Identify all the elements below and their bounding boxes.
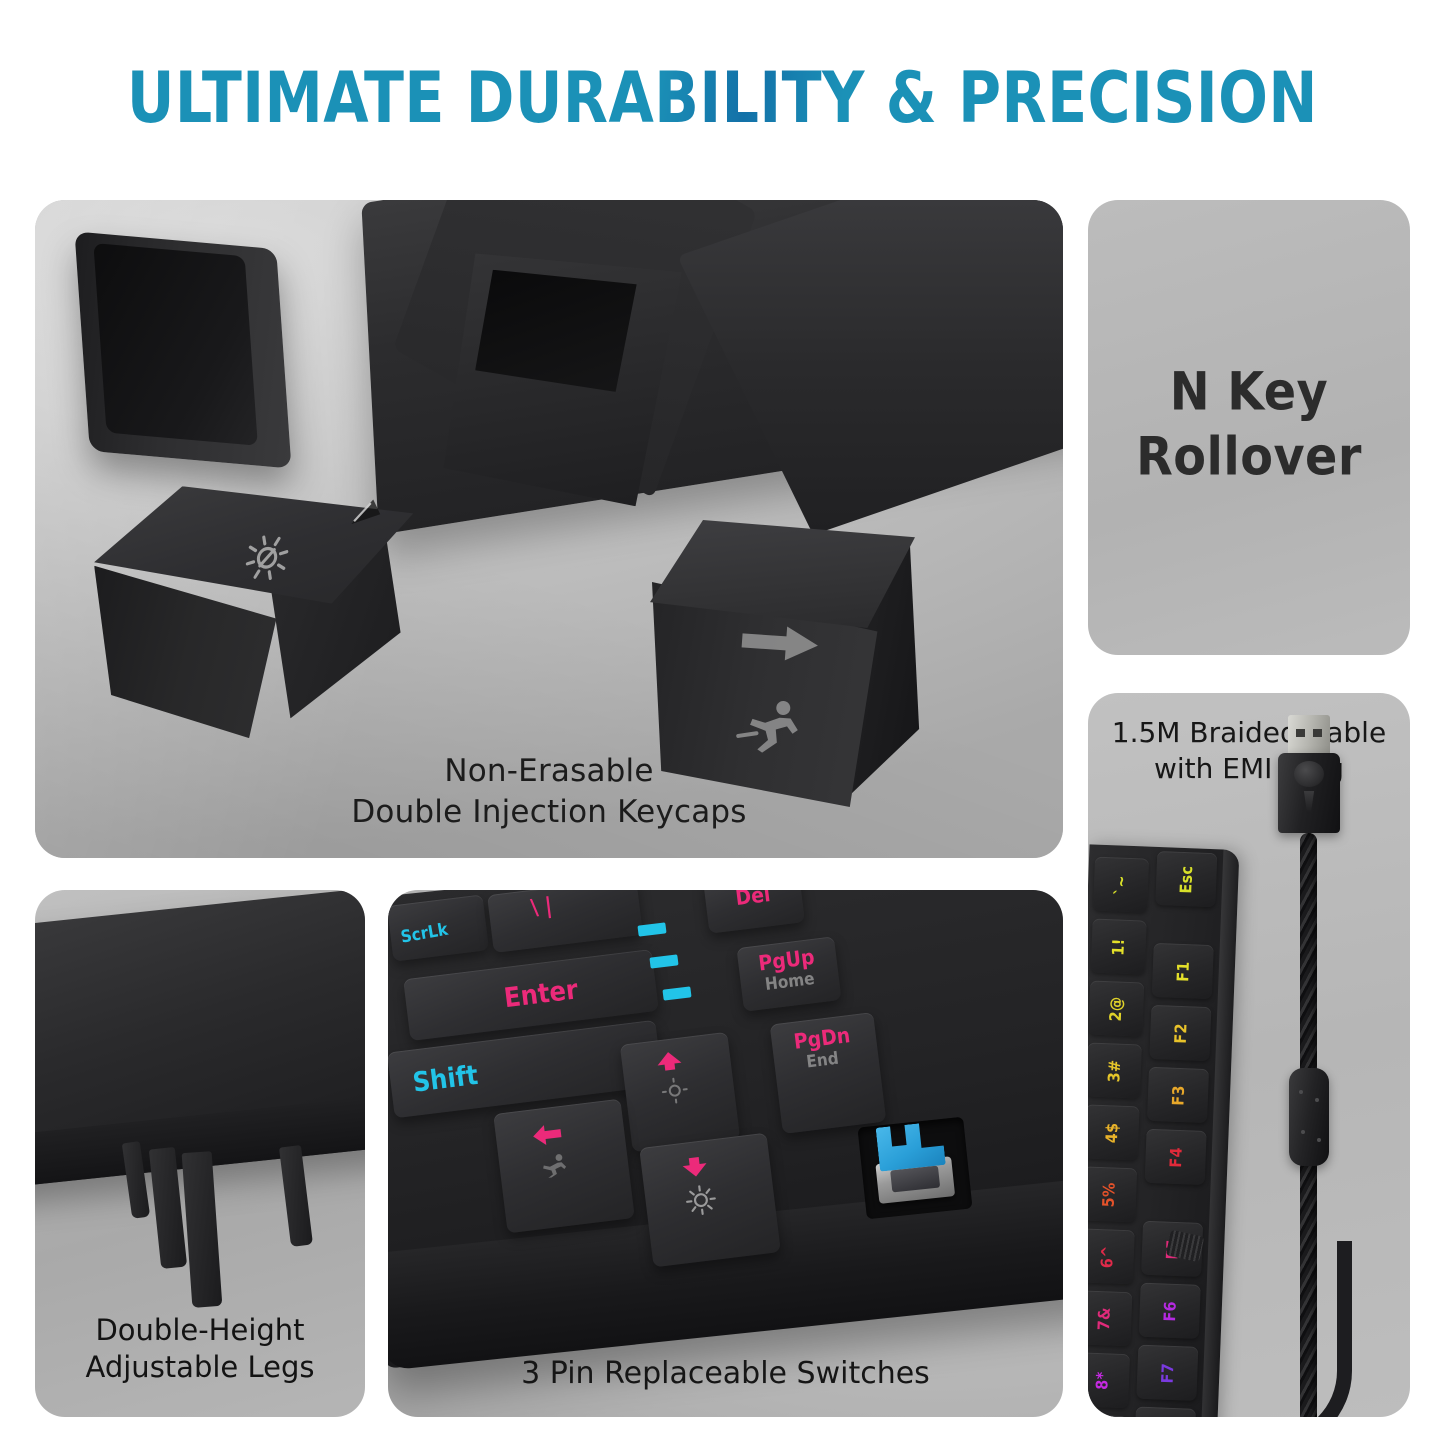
keyboard-key: 4$ [1088,1104,1140,1160]
keycaps-caption-line-1: Non-Erasable [35,751,1063,791]
keycap-pgdn: PgDn End [770,1012,887,1134]
switch-caption: 3 Pin Replaceable Switches [388,1356,1063,1391]
brightness-up-icon [682,1183,719,1217]
leg-stage-4 [279,1145,313,1247]
keycap-scrlk: ScrLk [388,894,489,961]
mechanical-switch [864,1120,964,1207]
keyboard-key-label: 6^ [1097,1245,1117,1268]
running-man-icon [733,696,803,756]
brightness-down-icon [658,1075,691,1106]
keyboard-key-label: F1 [1173,960,1193,981]
runner-small-icon [535,1151,572,1179]
usb-metal-shell [1288,715,1330,757]
keycap-pgup: PgUp Home [736,936,841,1011]
cable-caption-line-1: 1.5M Braided Cable [1088,715,1410,751]
keyboard-key-label: 2@ [1106,996,1126,1022]
leg-stage-3 [182,1151,223,1308]
legs-caption-line-2: Adjustable Legs [35,1349,365,1387]
keyboard-key: Esc [1155,851,1217,907]
keycap-brightness [88,482,422,743]
keyboard-key-label: `~ [1111,874,1131,895]
switch-stem [876,1121,946,1172]
keycap-arrow-down [639,1133,781,1268]
keyboard-key-label: 7& [1094,1306,1114,1330]
keyboard-key-label: Esc [1176,865,1196,894]
panel-keycaps: Non-Erasable Double Injection Keycaps [35,200,1063,858]
usb-housing [1278,753,1340,833]
cable-curve-segment [1192,1241,1332,1417]
keyboard-key: F8 [1134,1407,1196,1417]
keyboard-key-label: 5% [1099,1181,1119,1207]
emi-ferrite-ring [1289,1068,1329,1166]
hollow-keycap-center [443,253,682,507]
panel-braided-cable: 1.5M Braided Cable with EMI Ring `~1!2@3… [1088,693,1410,1417]
page-title: ULTIMATE DURABILITY & PRECISION [127,57,1318,139]
keycaps-caption-line-2: Double Injection Keycaps [35,792,1063,832]
switch-socket [857,1117,972,1220]
keyboard-key: F1 [1152,943,1214,999]
keyboard-key-label: F4 [1166,1146,1186,1167]
n-key-rollover-line-1: N Key [1088,359,1410,425]
panel-replaceable-switches: ScrLk \ | Enter Shift Del PgUp Home PgDn… [388,890,1063,1417]
panel-adjustable-legs: Double-Height Adjustable Legs [35,890,365,1417]
keyboard-key: 6^ [1088,1228,1135,1284]
n-key-rollover-line-2: Rollover [1088,425,1410,491]
usb-connector [1274,715,1344,835]
keyboard-key-label: 4$ [1102,1122,1122,1143]
legs-caption-line-1: Double-Height [35,1312,365,1350]
cable-caption-line-2: with EMI Ring [1088,751,1410,787]
keyboard-key-label: 3# [1104,1059,1124,1082]
page-title-bar: ULTIMATE DURABILITY & PRECISION [0,52,1445,144]
keyboard-key: 1! [1091,919,1147,975]
arrow-up-icon [655,1050,683,1073]
keyboard-key-label: F2 [1171,1022,1191,1043]
arrow-left-icon [531,1122,563,1147]
keyboard-key-label: F6 [1160,1300,1180,1321]
right-arrow-icon [739,619,822,666]
keycap-arrow-up [620,1032,740,1152]
keyboard-key: F3 [1147,1067,1209,1123]
keyboard-key-label: 1! [1109,938,1129,956]
keycaps-caption: Non-Erasable Double Injection Keycaps [35,751,1063,832]
legs-caption: Double-Height Adjustable Legs [35,1312,365,1387]
keyboard-key: 8* [1088,1352,1130,1408]
keyboard-key: F4 [1145,1129,1207,1185]
keyboard-key: 2@ [1088,980,1144,1036]
hollow-keycap-left [74,231,291,468]
arrow-down-icon [681,1154,709,1179]
keyboard-key: 5% [1088,1166,1137,1222]
keyboard-key-label: F7 [1157,1362,1177,1383]
keyboard-key-gap [1143,1191,1204,1215]
keyboard-key: F2 [1149,1005,1211,1061]
cable-caption: 1.5M Braided Cable with EMI Ring [1088,715,1410,787]
keycap-arrow-left [493,1099,635,1234]
keyboard-key: `~ [1093,857,1149,913]
keyboard-key-gap [1154,913,1215,937]
keyboard-underside [35,890,365,1189]
keyboard-key: F7 [1136,1345,1198,1401]
keyboard-key-label: 8* [1092,1371,1112,1390]
keyboard-key: 3# [1088,1042,1142,1098]
keyboard-key-label: F3 [1168,1084,1188,1105]
panel-n-key-rollover: N Key Rollover [1088,200,1410,655]
n-key-rollover-text: N Key Rollover [1088,359,1410,490]
infographic-page: ULTIMATE DURABILITY & PRECISION [0,0,1445,1445]
keyboard-key: 9( [1088,1414,1128,1417]
keyboard-key: 7& [1088,1290,1132,1346]
